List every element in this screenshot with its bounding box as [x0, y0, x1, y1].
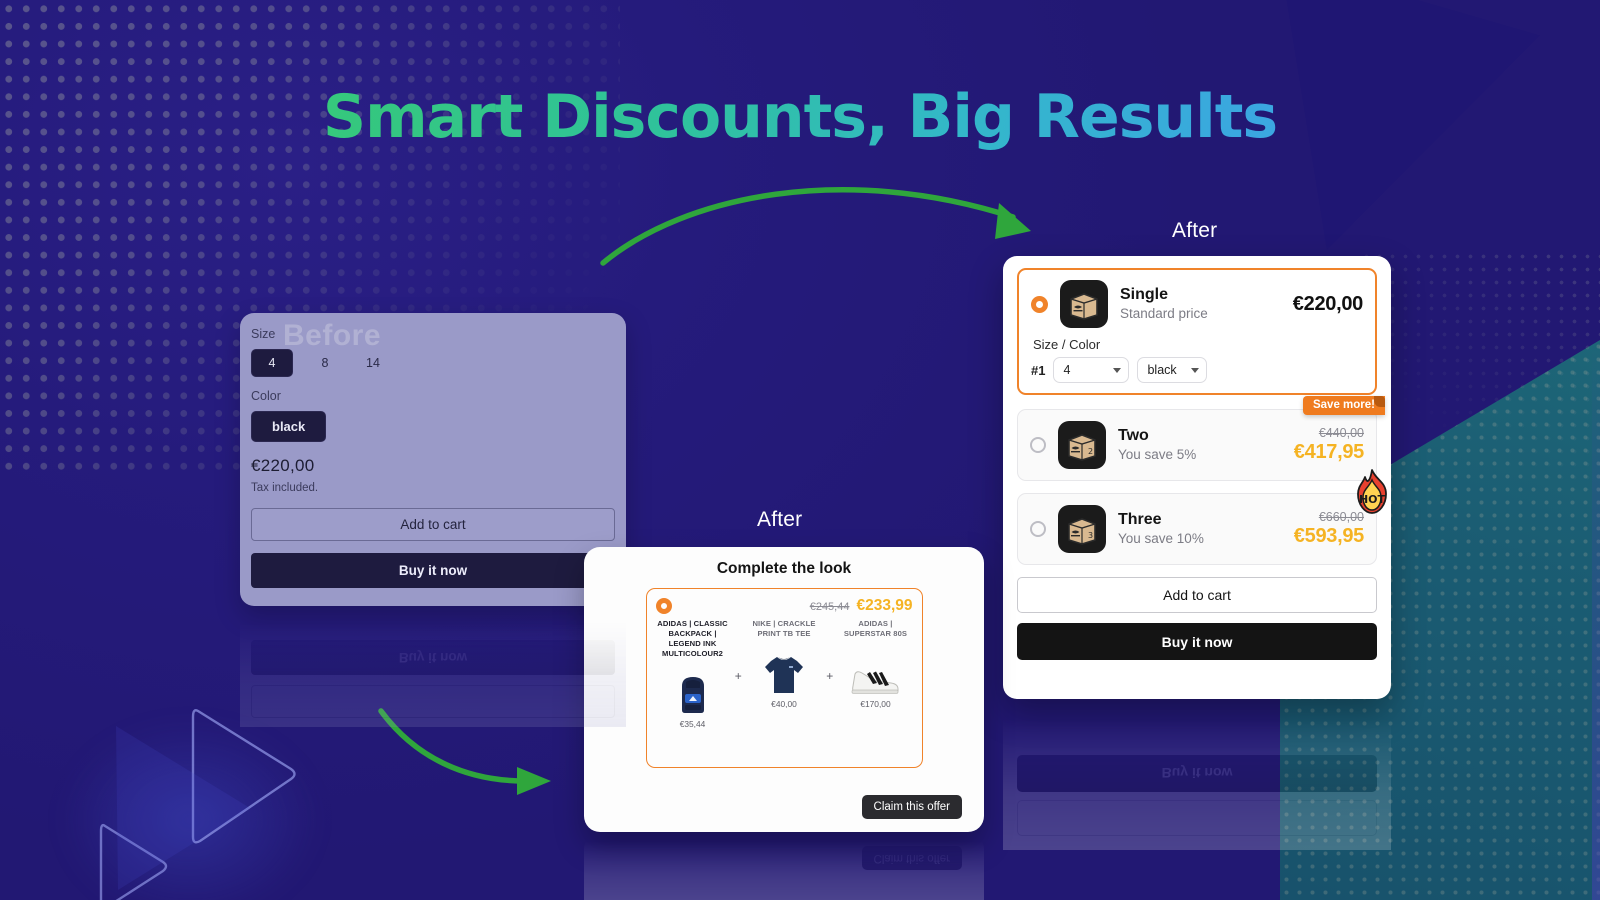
look-item-backpack-price: €35,44 [656, 719, 730, 729]
look-bundle-header: €245,44 €233,99 [656, 597, 913, 615]
color-select[interactable]: black [1137, 357, 1207, 383]
look-old-price: €245,44 [810, 601, 850, 613]
radio-two[interactable] [1030, 437, 1046, 453]
after-add-to-cart-button[interactable]: Add to cart [1017, 577, 1377, 613]
chevron-down-icon [1191, 368, 1199, 373]
look-item-sneaker-name: ADIDAS | SUPERSTAR 80S [838, 619, 912, 639]
save-more-ribbon: Save more! [1303, 396, 1385, 415]
before-price: €220,00 [251, 456, 615, 476]
page-title: Smart Discounts, Big Results [0, 82, 1600, 152]
bundle-two-old-price: €440,00 [1294, 426, 1364, 440]
radio-single-selected[interactable] [1031, 296, 1048, 313]
complete-the-look-panel: Complete the look €245,44 €233,99 ADIDAS… [584, 547, 984, 832]
package-box-1-icon [1060, 280, 1108, 328]
bundle-option-single[interactable]: Single Standard price €220,00 Size / Col… [1017, 268, 1377, 395]
before-size-option-4[interactable]: 4 [251, 349, 293, 377]
before-watermark: Before [283, 319, 381, 353]
claim-this-offer-button[interactable]: Claim this offer [862, 795, 962, 819]
bundle-three-title: Three [1118, 510, 1286, 530]
plus-separator-1: + [735, 619, 742, 683]
bundle-single-title: Single [1120, 285, 1285, 305]
before-add-to-cart-button[interactable]: Add to cart [251, 508, 615, 541]
size-select[interactable]: 4 [1053, 357, 1129, 383]
backpack-icon [667, 662, 719, 716]
plus-separator-2: + [826, 619, 833, 683]
bundle-three-subtitle: You save 10% [1118, 530, 1286, 548]
look-item-backpack-name: ADIDAS | CLASSIC BACKPACK | LEGEND INK M… [656, 619, 730, 659]
before-color-option-black[interactable]: black [251, 411, 326, 442]
play-triangle-solid-ghost [108, 708, 308, 900]
look-heading: Complete the look [584, 560, 984, 578]
chevron-down-icon [1113, 368, 1121, 373]
look-bundle-box[interactable]: €245,44 €233,99 ADIDAS | CLASSIC BACKPAC… [646, 588, 923, 768]
bundle-single-variant-row: #1 4 black [1031, 357, 1363, 383]
before-size-options: 4 8 14 [251, 349, 615, 377]
bundle-two-subtitle: You save 5% [1118, 446, 1286, 464]
after-label-right: After [1172, 219, 1217, 243]
svg-text:2: 2 [1088, 447, 1093, 456]
size-select-value: 4 [1063, 363, 1070, 377]
bundle-two-price: €417,95 [1294, 441, 1364, 464]
package-box-3-icon: 3 [1058, 505, 1106, 553]
after-bundle-panel: Single Standard price €220,00 Size / Col… [1003, 256, 1391, 699]
look-items-row: ADIDAS | CLASSIC BACKPACK | LEGEND INK M… [656, 619, 913, 729]
svg-text:HOT: HOT [1359, 493, 1386, 506]
after-buy-it-now-button[interactable]: Buy it now [1017, 623, 1377, 660]
sneaker-icon [849, 642, 901, 696]
hot-fire-badge-icon: HOT [1348, 468, 1396, 516]
bundle-single-subtitle: Standard price [1120, 305, 1285, 323]
poster-canvas: Smart Discounts, Big Results After After… [0, 0, 1600, 900]
halftone-dots-right [1360, 250, 1600, 490]
look-item-tee[interactable]: NIKE | CRACKLE PRINT TB TEE €40,00 [747, 619, 821, 709]
before-product-panel: Before Size 4 8 14 Color black €220,00 T… [240, 313, 626, 606]
arrow-to-look-panel [375, 705, 565, 800]
bundle-three-price: €593,95 [1294, 525, 1364, 548]
package-box-2-icon: 2 [1058, 421, 1106, 469]
before-color-label: Color [251, 389, 615, 403]
radio-bundle-selected[interactable] [656, 598, 672, 614]
before-buy-it-now-button[interactable]: Buy it now [251, 553, 615, 588]
bundle-option-two[interactable]: Save more! 2 Two You save 5% €440,00 €41… [1017, 409, 1377, 481]
svg-text:3: 3 [1088, 531, 1093, 540]
radio-three[interactable] [1030, 521, 1046, 537]
bundle-single-price: €220,00 [1293, 293, 1363, 316]
arrow-to-after-panel [595, 155, 1065, 275]
look-bundle-prices: €245,44 €233,99 [810, 597, 913, 615]
before-size-option-14[interactable]: 14 [349, 349, 397, 377]
bundle-option-three[interactable]: HOT 3 Three You save 10% €660,00 €59 [1017, 493, 1377, 565]
look-item-tee-price: €40,00 [747, 699, 821, 709]
look-new-price: €233,99 [856, 597, 912, 615]
look-item-tee-name: NIKE | CRACKLE PRINT TB TEE [747, 619, 821, 639]
before-tax-note: Tax included. [251, 482, 615, 494]
look-item-sneaker-price: €170,00 [838, 699, 912, 709]
after-label-center: After [757, 508, 802, 532]
color-select-value: black [1147, 363, 1176, 377]
look-item-sneaker[interactable]: ADIDAS | SUPERSTAR 80S €170,00 [838, 619, 912, 709]
variant-index: #1 [1031, 363, 1045, 378]
before-size-option-8[interactable]: 8 [301, 349, 349, 377]
bundle-single-variant-label: Size / Color [1033, 337, 1363, 352]
bundle-two-title: Two [1118, 426, 1286, 446]
tshirt-icon [758, 642, 810, 696]
look-item-backpack[interactable]: ADIDAS | CLASSIC BACKPACK | LEGEND INK M… [656, 619, 730, 729]
